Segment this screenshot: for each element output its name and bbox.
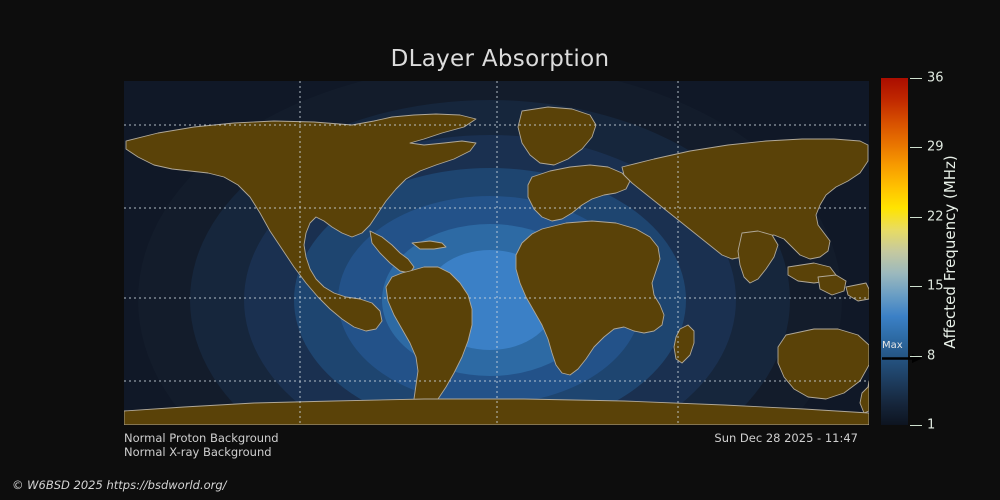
colorbar-tick-36 [910, 78, 922, 79]
map-svg [124, 81, 869, 425]
colorbar-tick-15 [910, 286, 922, 287]
timestamp: Sun Dec 28 2025 - 11:47 [714, 431, 858, 445]
page-title: DLayer Absorption [0, 46, 1000, 72]
world-map-plot [124, 81, 869, 425]
colorbar-tick-1 [910, 425, 922, 426]
colorbar-tick-22 [910, 217, 922, 218]
chart-canvas: DLayer Absorption [0, 0, 1000, 500]
colorbar-gradient [881, 78, 908, 425]
colorbar-axis-label: Affected Frequency (MHz) [938, 78, 962, 425]
colorbar: Max 1815222936 [881, 78, 908, 425]
status-proton-background: Normal Proton Background [124, 431, 279, 445]
colorbar-tick-29 [910, 147, 922, 148]
copyright-notice: © W6BSD 2025 https://bsdworld.org/ [12, 478, 227, 492]
colorbar-axis-label-text: Affected Frequency (MHz) [941, 155, 959, 349]
colorbar-tick-label-1: 1 [927, 418, 935, 433]
colorbar-tick-8 [910, 356, 922, 357]
colorbar-max-label: Max [882, 340, 903, 351]
status-xray-background: Normal X-ray Background [124, 445, 272, 459]
colorbar-tick-label-8: 8 [927, 348, 935, 363]
